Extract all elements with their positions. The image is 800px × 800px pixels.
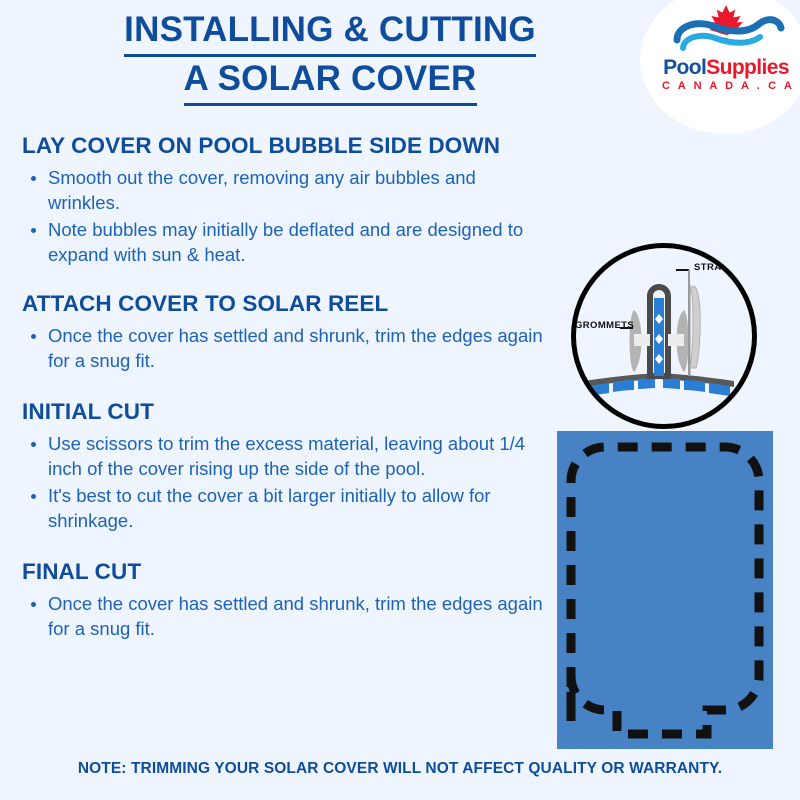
footer-note: NOTE: TRIMMING YOUR SOLAR COVER WILL NOT… xyxy=(0,760,800,778)
section-initial-cut: INITIAL CUT Use scissors to trim the exc… xyxy=(22,398,550,534)
section-attach-cover: ATTACH COVER TO SOLAR REEL Once the cove… xyxy=(22,290,550,374)
page-title: INSTALLING & CUTTING A SOLAR COVER xyxy=(0,8,660,106)
instructions-column: LAY COVER ON POOL BUBBLE SIDE DOWN Smoot… xyxy=(22,132,550,658)
logo-subtitle: C A N A D A . C A xyxy=(662,80,790,92)
pool-cut-line xyxy=(557,431,773,749)
title-line-2: A SOLAR COVER xyxy=(184,57,477,106)
section-bullets: Smooth out the cover, removing any air b… xyxy=(22,166,550,268)
logo-inner: PoolSupplies C A N A D A . C A xyxy=(662,4,790,92)
strap-element xyxy=(688,284,700,376)
logo-mark xyxy=(667,4,785,56)
grommet-strap-diagram: GROMMETS STRAP xyxy=(571,243,757,429)
list-item: Note bubbles may initially be deflated a… xyxy=(22,218,550,268)
title-line-1: INSTALLING & CUTTING xyxy=(124,8,536,57)
list-item: Smooth out the cover, removing any air b… xyxy=(22,166,550,216)
grommets-label: GROMMETS xyxy=(575,320,634,331)
list-item: It's best to cut the cover a bit larger … xyxy=(22,484,550,534)
infographic-page: INSTALLING & CUTTING A SOLAR COVER PoolS… xyxy=(0,0,800,800)
section-heading: LAY COVER ON POOL BUBBLE SIDE DOWN xyxy=(22,132,550,159)
list-item: Once the cover has settled and shrunk, t… xyxy=(22,592,550,642)
brand-logo[interactable]: PoolSupplies C A N A D A . C A xyxy=(640,0,800,134)
section-heading: INITIAL CUT xyxy=(22,398,550,425)
logo-wordmark: PoolSupplies xyxy=(662,57,790,78)
logo-word-supplies: Supplies xyxy=(706,56,789,79)
section-final-cut: FINAL CUT Once the cover has settled and… xyxy=(22,558,550,642)
cover-fold xyxy=(650,287,668,376)
pool-cut-diagram xyxy=(557,431,773,749)
section-heading: ATTACH COVER TO SOLAR REEL xyxy=(22,290,550,317)
section-bullets: Once the cover has settled and shrunk, t… xyxy=(22,324,550,374)
section-heading: FINAL CUT xyxy=(22,558,550,585)
list-item: Use scissors to trim the excess material… xyxy=(22,432,550,482)
list-item: Once the cover has settled and shrunk, t… xyxy=(22,324,550,374)
logo-word-pool: Pool xyxy=(663,56,706,79)
section-lay-cover: LAY COVER ON POOL BUBBLE SIDE DOWN Smoot… xyxy=(22,132,550,268)
section-bullets: Use scissors to trim the excess material… xyxy=(22,432,550,534)
strap-label: STRAP xyxy=(694,262,728,273)
section-bullets: Once the cover has settled and shrunk, t… xyxy=(22,592,550,642)
